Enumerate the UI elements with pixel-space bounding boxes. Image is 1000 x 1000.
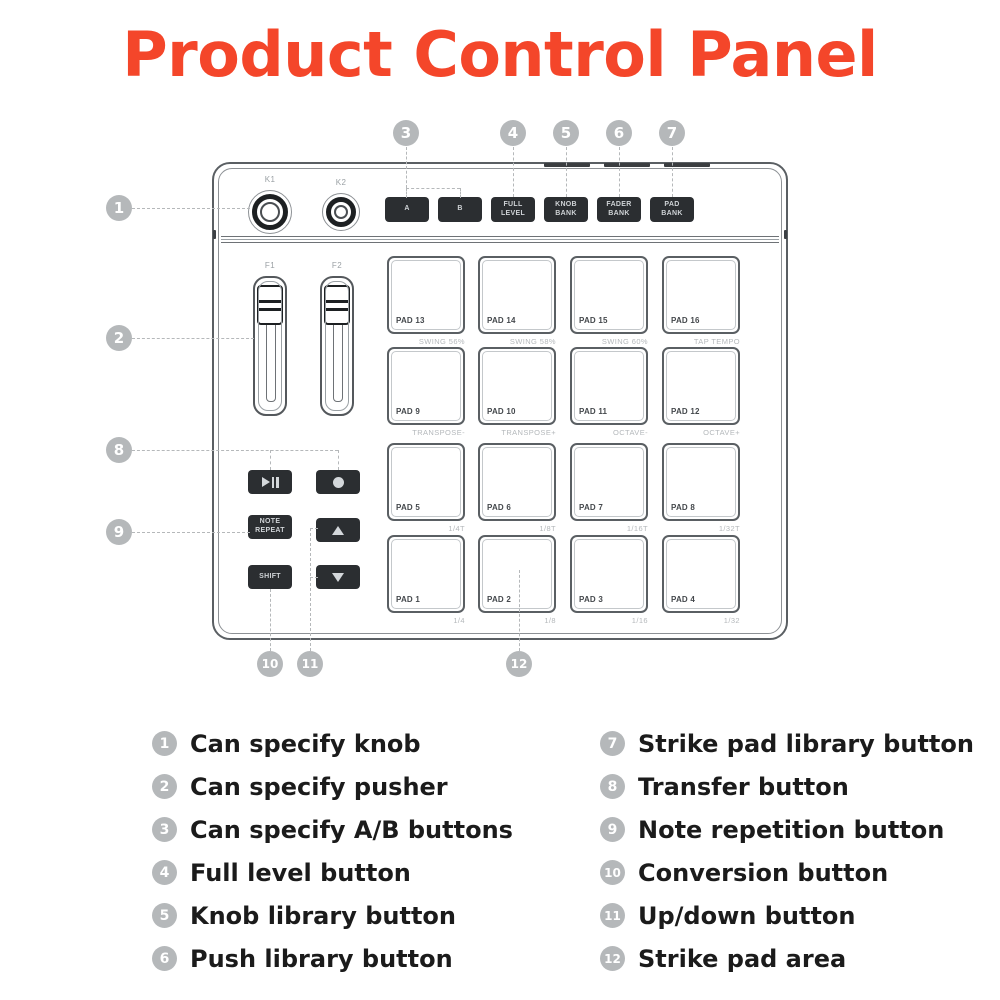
- legend-num-6: 6: [152, 946, 177, 971]
- legend-num-11: 11: [600, 903, 625, 928]
- button-full-level[interactable]: FULL LEVEL: [491, 197, 535, 222]
- button-full-level-label-2: LEVEL: [501, 210, 525, 219]
- button-b-label: B: [457, 205, 462, 214]
- pad-15-label: PAD 15: [579, 316, 608, 325]
- pad-2-label: PAD 2: [487, 595, 511, 604]
- leader-9: [132, 532, 250, 533]
- legend-text-2: Can specify pusher: [190, 773, 448, 801]
- fader-f1-track[interactable]: [253, 276, 287, 416]
- legend-text-8: Transfer button: [638, 773, 849, 801]
- legend-item-4: 4 Full level button: [152, 851, 572, 894]
- button-pad-bank-label-2: BANK: [661, 210, 682, 219]
- top-edge-dash-3: [664, 163, 710, 167]
- pad-5-label: PAD 5: [396, 503, 420, 512]
- leader-11-bracket-2: [310, 577, 318, 578]
- button-play-pause[interactable]: [248, 470, 292, 494]
- top-edge-dash-2: [604, 163, 650, 167]
- pad-7[interactable]: PAD 7: [570, 443, 648, 521]
- leader-1: [132, 208, 250, 209]
- legend-item-11: 11 Up/down button: [600, 894, 1000, 937]
- legend-text-12: Strike pad area: [638, 945, 846, 973]
- legend-text-5: Knob library button: [190, 902, 456, 930]
- pad-14[interactable]: PAD 14: [478, 256, 556, 334]
- legend-text-4: Full level button: [190, 859, 411, 887]
- button-note-repeat[interactable]: NOTE REPEAT: [248, 515, 292, 539]
- legend-item-1: 1 Can specify knob: [152, 722, 572, 765]
- button-knob-bank-label-2: BANK: [555, 210, 576, 219]
- product-control-panel-page: Product Control Panel K1 K2 F1 F2: [0, 0, 1000, 1000]
- pad-9[interactable]: PAD 9: [387, 347, 465, 425]
- fader-f2[interactable]: F2: [320, 276, 354, 416]
- fader-f2-track[interactable]: [320, 276, 354, 416]
- callout-3[interactable]: 3: [393, 120, 419, 146]
- pad-9-label: PAD 9: [396, 407, 420, 416]
- knob-k1-label: K1: [248, 175, 292, 184]
- callout-9[interactable]: 9: [106, 519, 132, 545]
- pad-1-label: PAD 1: [396, 595, 420, 604]
- callout-4-label: 4: [508, 124, 518, 142]
- legend-num-4: 4: [152, 860, 177, 885]
- leader-11: [310, 528, 311, 651]
- legend-text-10: Conversion button: [638, 859, 888, 887]
- button-b[interactable]: B: [438, 197, 482, 222]
- legend-text-7: Strike pad library button: [638, 730, 974, 758]
- fader-f1-slot: [266, 300, 276, 402]
- leader-3-bracket: [406, 188, 460, 189]
- legend-item-5: 5 Knob library button: [152, 894, 572, 937]
- leader-5: [566, 147, 567, 197]
- button-record[interactable]: [316, 470, 360, 494]
- leader-3-stem: [406, 147, 407, 188]
- callout-10-label: 10: [262, 657, 279, 671]
- knob-k2[interactable]: K2: [322, 193, 360, 231]
- pad-6-sub: 1/8T: [478, 524, 556, 533]
- legend-num-2: 2: [152, 774, 177, 799]
- arrow-down-icon: [332, 573, 344, 582]
- pad-13-sub: SWING 56%: [387, 337, 465, 346]
- right-edge-tab: [784, 230, 787, 239]
- legend-num-1: 1: [152, 731, 177, 756]
- legend-text-3: Can specify A/B buttons: [190, 816, 513, 844]
- pad-4-sub: 1/32: [662, 616, 740, 625]
- fader-f1[interactable]: F1: [253, 276, 287, 416]
- pad-7-label: PAD 7: [579, 503, 603, 512]
- legend-item-3: 3 Can specify A/B buttons: [152, 808, 572, 851]
- pad-12-label: PAD 12: [671, 407, 700, 416]
- pad-8-label: PAD 8: [671, 503, 695, 512]
- button-a-label: A: [404, 205, 409, 214]
- knob-k2-dial[interactable]: [322, 193, 360, 231]
- fader-f2-slot: [333, 300, 343, 402]
- button-a[interactable]: A: [385, 197, 429, 222]
- pad-13[interactable]: PAD 13: [387, 256, 465, 334]
- legend-item-9: 9 Note repetition button: [600, 808, 1000, 851]
- callout-2-label: 2: [114, 329, 124, 347]
- pad-11-sub: OCTAVE-: [570, 428, 648, 437]
- legend-num-12: 12: [600, 946, 625, 971]
- leader-8: [132, 450, 338, 451]
- legend-num-7: 7: [600, 731, 625, 756]
- button-shift-label: SHIFT: [259, 573, 281, 582]
- button-down[interactable]: [316, 565, 360, 589]
- button-full-level-label-1: FULL: [503, 201, 522, 210]
- legend-item-12: 12 Strike pad area: [600, 937, 1000, 980]
- legend-item-8: 8 Transfer button: [600, 765, 1000, 808]
- button-note-repeat-label-1: NOTE: [260, 518, 281, 527]
- pad-5[interactable]: PAD 5: [387, 443, 465, 521]
- callout-9-label: 9: [114, 523, 124, 541]
- callout-3-label: 3: [401, 124, 411, 142]
- legend-item-7: 7 Strike pad library button: [600, 722, 1000, 765]
- pad-10-sub: TRANSPOSE+: [478, 428, 556, 437]
- callout-1[interactable]: 1: [106, 195, 132, 221]
- legend-item-2: 2 Can specify pusher: [152, 765, 572, 808]
- leader-8-drop-2: [338, 450, 339, 470]
- pad-6-label: PAD 6: [487, 503, 511, 512]
- callout-8[interactable]: 8: [106, 437, 132, 463]
- pad-7-sub: 1/16T: [570, 524, 648, 533]
- pad-11-label: PAD 11: [579, 407, 607, 416]
- pad-16-label: PAD 16: [671, 316, 700, 325]
- leader-8-drop-1: [270, 450, 271, 470]
- arrow-up-icon: [332, 526, 344, 535]
- leader-4: [513, 147, 514, 197]
- callout-1-label: 1: [114, 199, 124, 217]
- fader-f2-label: F2: [320, 261, 354, 270]
- leader-10: [270, 589, 271, 651]
- button-pad-bank-label-1: PAD: [664, 201, 679, 210]
- pad-11[interactable]: PAD 11: [570, 347, 648, 425]
- legend-column-left: 1 Can specify knob 2 Can specify pusher …: [152, 722, 572, 980]
- pad-4[interactable]: PAD 4: [662, 535, 740, 613]
- knob-k1-dial[interactable]: [248, 190, 292, 234]
- knob-k1[interactable]: K1: [248, 190, 292, 234]
- legend-item-6: 6 Push library button: [152, 937, 572, 980]
- callout-11[interactable]: 11: [297, 651, 323, 677]
- legend-text-9: Note repetition button: [638, 816, 944, 844]
- button-fader-bank[interactable]: FADER BANK: [597, 197, 641, 222]
- play-pause-icon: [262, 477, 279, 488]
- button-shift[interactable]: SHIFT: [248, 565, 292, 589]
- leader-7: [672, 147, 673, 197]
- callout-2[interactable]: 2: [106, 325, 132, 351]
- button-note-repeat-label-2: REPEAT: [255, 527, 285, 536]
- leader-2: [132, 338, 254, 339]
- page-title: Product Control Panel: [0, 18, 1000, 91]
- legend: 1 Can specify knob 2 Can specify pusher …: [0, 722, 1000, 1000]
- legend-text-11: Up/down button: [638, 902, 856, 930]
- button-up[interactable]: [316, 518, 360, 542]
- pad-1[interactable]: PAD 1: [387, 535, 465, 613]
- callout-12-label: 12: [511, 657, 528, 671]
- pad-8-sub: 1/32T: [662, 524, 740, 533]
- leader-3-drop-a: [406, 188, 407, 198]
- pad-9-sub: TRANSPOSE-: [387, 428, 465, 437]
- pad-10-label: PAD 10: [487, 407, 516, 416]
- pad-2[interactable]: PAD 2: [478, 535, 556, 613]
- callout-4[interactable]: 4: [500, 120, 526, 146]
- callout-8-label: 8: [114, 441, 124, 459]
- pad-13-label: PAD 13: [396, 316, 425, 325]
- legend-num-5: 5: [152, 903, 177, 928]
- callout-12[interactable]: 12: [506, 651, 532, 677]
- button-knob-bank-label-1: KNOB: [555, 201, 577, 210]
- leader-12: [519, 570, 520, 651]
- pad-1-sub: 1/4: [387, 616, 465, 625]
- callout-7[interactable]: 7: [659, 120, 685, 146]
- button-pad-bank[interactable]: PAD BANK: [650, 197, 694, 222]
- legend-num-8: 8: [600, 774, 625, 799]
- callout-10[interactable]: 10: [257, 651, 283, 677]
- fader-f1-cap[interactable]: [257, 285, 283, 325]
- pad-15[interactable]: PAD 15: [570, 256, 648, 334]
- pad-16[interactable]: PAD 16: [662, 256, 740, 334]
- legend-text-1: Can specify knob: [190, 730, 421, 758]
- pad-14-label: PAD 14: [487, 316, 516, 325]
- legend-num-3: 3: [152, 817, 177, 842]
- pad-14-sub: SWING 58%: [478, 337, 556, 346]
- pad-5-sub: 1/4T: [387, 524, 465, 533]
- pad-3-sub: 1/16: [570, 616, 648, 625]
- button-knob-bank[interactable]: KNOB BANK: [544, 197, 588, 222]
- pad-10[interactable]: PAD 10: [478, 347, 556, 425]
- knob-k2-label: K2: [322, 178, 360, 187]
- legend-text-6: Push library button: [190, 945, 453, 973]
- fader-f2-cap[interactable]: [324, 285, 350, 325]
- callout-5[interactable]: 5: [553, 120, 579, 146]
- leader-6: [619, 147, 620, 197]
- pad-2-sub: 1/8: [478, 616, 556, 625]
- callout-7-label: 7: [667, 124, 677, 142]
- callout-6[interactable]: 6: [606, 120, 632, 146]
- callout-5-label: 5: [561, 124, 571, 142]
- top-edge-dash-1: [544, 163, 590, 167]
- panel-separator: [221, 236, 779, 245]
- callout-6-label: 6: [614, 124, 624, 142]
- callout-11-label: 11: [302, 657, 319, 671]
- button-fader-bank-label-1: FADER: [606, 201, 631, 210]
- pad-3-label: PAD 3: [579, 595, 603, 604]
- pad-12-sub: OCTAVE+: [662, 428, 740, 437]
- fader-f1-label: F1: [253, 261, 287, 270]
- button-fader-bank-label-2: BANK: [608, 210, 629, 219]
- pad-16-sub: TAP TEMPO: [662, 337, 740, 346]
- pad-12[interactable]: PAD 12: [662, 347, 740, 425]
- pad-15-sub: SWING 60%: [570, 337, 648, 346]
- record-icon: [333, 477, 344, 488]
- pad-8[interactable]: PAD 8: [662, 443, 740, 521]
- legend-num-10: 10: [600, 860, 625, 885]
- legend-column-right: 7 Strike pad library button 8 Transfer b…: [600, 722, 1000, 980]
- left-edge-tab: [213, 230, 216, 239]
- legend-item-10: 10 Conversion button: [600, 851, 1000, 894]
- leader-3-drop-b: [460, 188, 461, 198]
- pad-4-label: PAD 4: [671, 595, 695, 604]
- pad-6[interactable]: PAD 6: [478, 443, 556, 521]
- pad-3[interactable]: PAD 3: [570, 535, 648, 613]
- leader-11-bracket: [310, 528, 318, 529]
- legend-num-9: 9: [600, 817, 625, 842]
